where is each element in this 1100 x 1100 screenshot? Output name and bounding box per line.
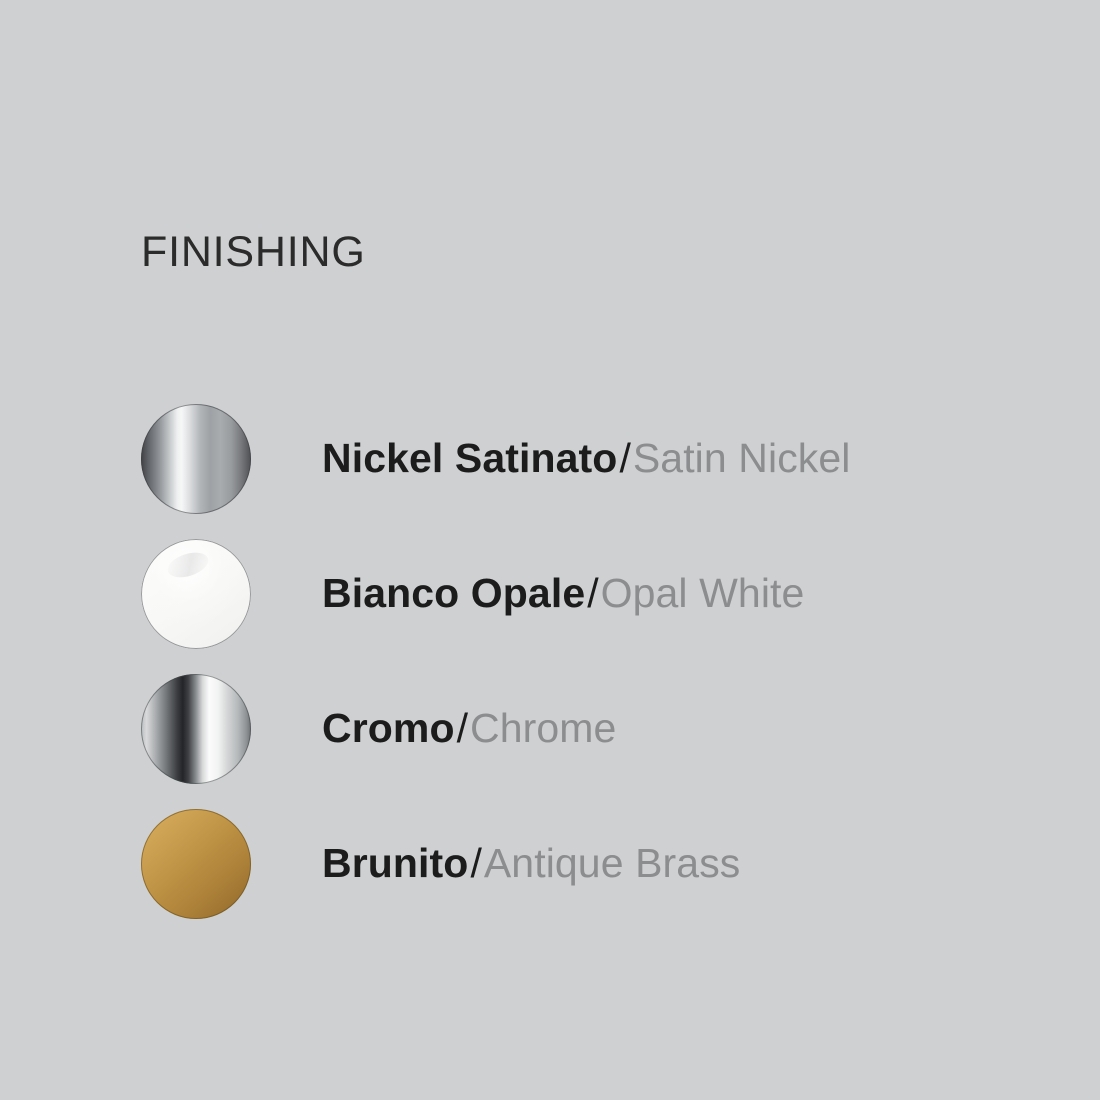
finish-options-list: Nickel Satinato / Satin Nickel Bianco Op… xyxy=(0,404,1100,944)
finish-translation: Chrome xyxy=(470,706,616,751)
finishing-panel: FINISHING Nickel Satinato / Satin Nickel… xyxy=(0,0,1100,1100)
finish-option-nickel-satinato[interactable]: Nickel Satinato / Satin Nickel xyxy=(0,404,1100,539)
finish-translation: Antique Brass xyxy=(484,841,741,886)
finish-label: Nickel Satinato / Satin Nickel xyxy=(322,404,851,514)
page-title: FINISHING xyxy=(141,231,366,274)
finish-label: Cromo / Chrome xyxy=(322,674,616,784)
finish-label: Bianco Opale / Opal White xyxy=(322,539,804,649)
finish-option-cromo[interactable]: Cromo / Chrome xyxy=(0,674,1100,809)
finish-name: Nickel Satinato xyxy=(322,436,617,481)
finish-name: Brunito xyxy=(322,841,468,886)
finish-name: Bianco Opale xyxy=(322,571,585,616)
finish-option-bianco-opale[interactable]: Bianco Opale / Opal White xyxy=(0,539,1100,674)
finish-separator: / xyxy=(617,436,632,481)
finish-translation: Opal White xyxy=(601,571,805,616)
finish-separator: / xyxy=(585,571,600,616)
finish-name: Cromo xyxy=(322,706,455,751)
finish-option-brunito[interactable]: Brunito / Antique Brass xyxy=(0,809,1100,944)
chrome-swatch[interactable] xyxy=(141,674,251,784)
satin-nickel-swatch[interactable] xyxy=(141,404,251,514)
opal-white-swatch[interactable] xyxy=(141,539,251,649)
finish-separator: / xyxy=(468,841,483,886)
finish-translation: Satin Nickel xyxy=(633,436,851,481)
antique-brass-swatch[interactable] xyxy=(141,809,251,919)
finish-separator: / xyxy=(455,706,470,751)
finish-label: Brunito / Antique Brass xyxy=(322,809,740,919)
